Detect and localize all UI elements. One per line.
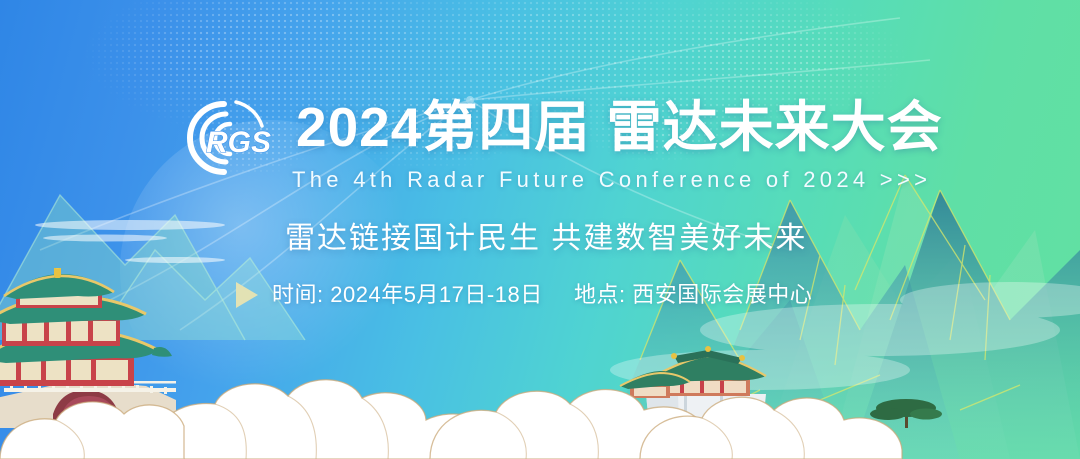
conference-title: 2024第四届 雷达未来大会 [296, 96, 943, 158]
play-triangle-icon [236, 282, 258, 308]
conference-slogan: 雷达链接国计民生 共建数智美好未来 [285, 217, 807, 261]
event-date: 时间: 2024年5月17日-18日 地点: 西安国际会展中心 [272, 280, 812, 310]
event-date-label: 时间: [272, 282, 324, 307]
conference-subtitle-english: The 4th Radar Future Conference of 2024 … [292, 166, 931, 194]
event-date-value: 2024年5月17日-18日 [330, 282, 542, 307]
rgs-logo: RGS [166, 96, 282, 180]
conference-banner: RGS 2024第四届 雷达未来大会 The 4th Radar Future … [0, 0, 1080, 459]
event-info-line: 时间: 2024年5月17日-18日 地点: 西安国际会展中心 [236, 280, 812, 310]
event-venue-value: 西安国际会展中心 [632, 282, 812, 307]
event-venue-label: 地点: [574, 282, 626, 307]
rgs-logo-text: RGS [206, 126, 271, 159]
